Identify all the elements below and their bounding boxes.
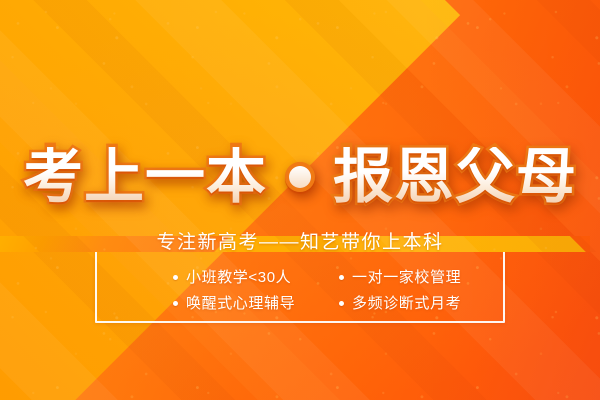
list-item: 一对一家校管理 xyxy=(339,268,505,287)
banner-subtitle: 专注新高考——知艺带你上本科 xyxy=(0,232,600,254)
list-item: 唤醒式心理辅导 xyxy=(173,294,339,313)
list-item: 多频诊断式月考 xyxy=(339,294,505,313)
bullet-dot-icon xyxy=(339,301,344,306)
bullet-dot-icon xyxy=(173,301,178,306)
page-title: 考上一本 报恩父母 xyxy=(0,139,600,215)
list-item: 小班教学<30人 xyxy=(173,268,339,287)
feature-label: 唤醒式心理辅导 xyxy=(186,294,295,313)
headline-right: 报恩父母 xyxy=(333,147,577,207)
feature-list: 小班教学<30人 一对一家校管理 唤醒式心理辅导 多频诊断式月考 xyxy=(95,268,505,313)
feature-label: 小班教学<30人 xyxy=(186,268,291,287)
bullet-dot-icon xyxy=(339,275,344,280)
feature-label: 一对一家校管理 xyxy=(352,268,461,287)
feature-label: 多频诊断式月考 xyxy=(352,294,461,313)
headline-text: 考上一本 报恩父母 xyxy=(23,147,577,207)
headline-separator-dot-icon-top xyxy=(289,166,311,188)
bullet-dot-icon xyxy=(173,275,178,280)
promo-banner: 考上一本 报恩父母 考上一本 报恩父母 专注新高考——知艺带你上本科 小班教学<… xyxy=(0,0,600,400)
headline-left: 考上一本 xyxy=(23,147,267,207)
